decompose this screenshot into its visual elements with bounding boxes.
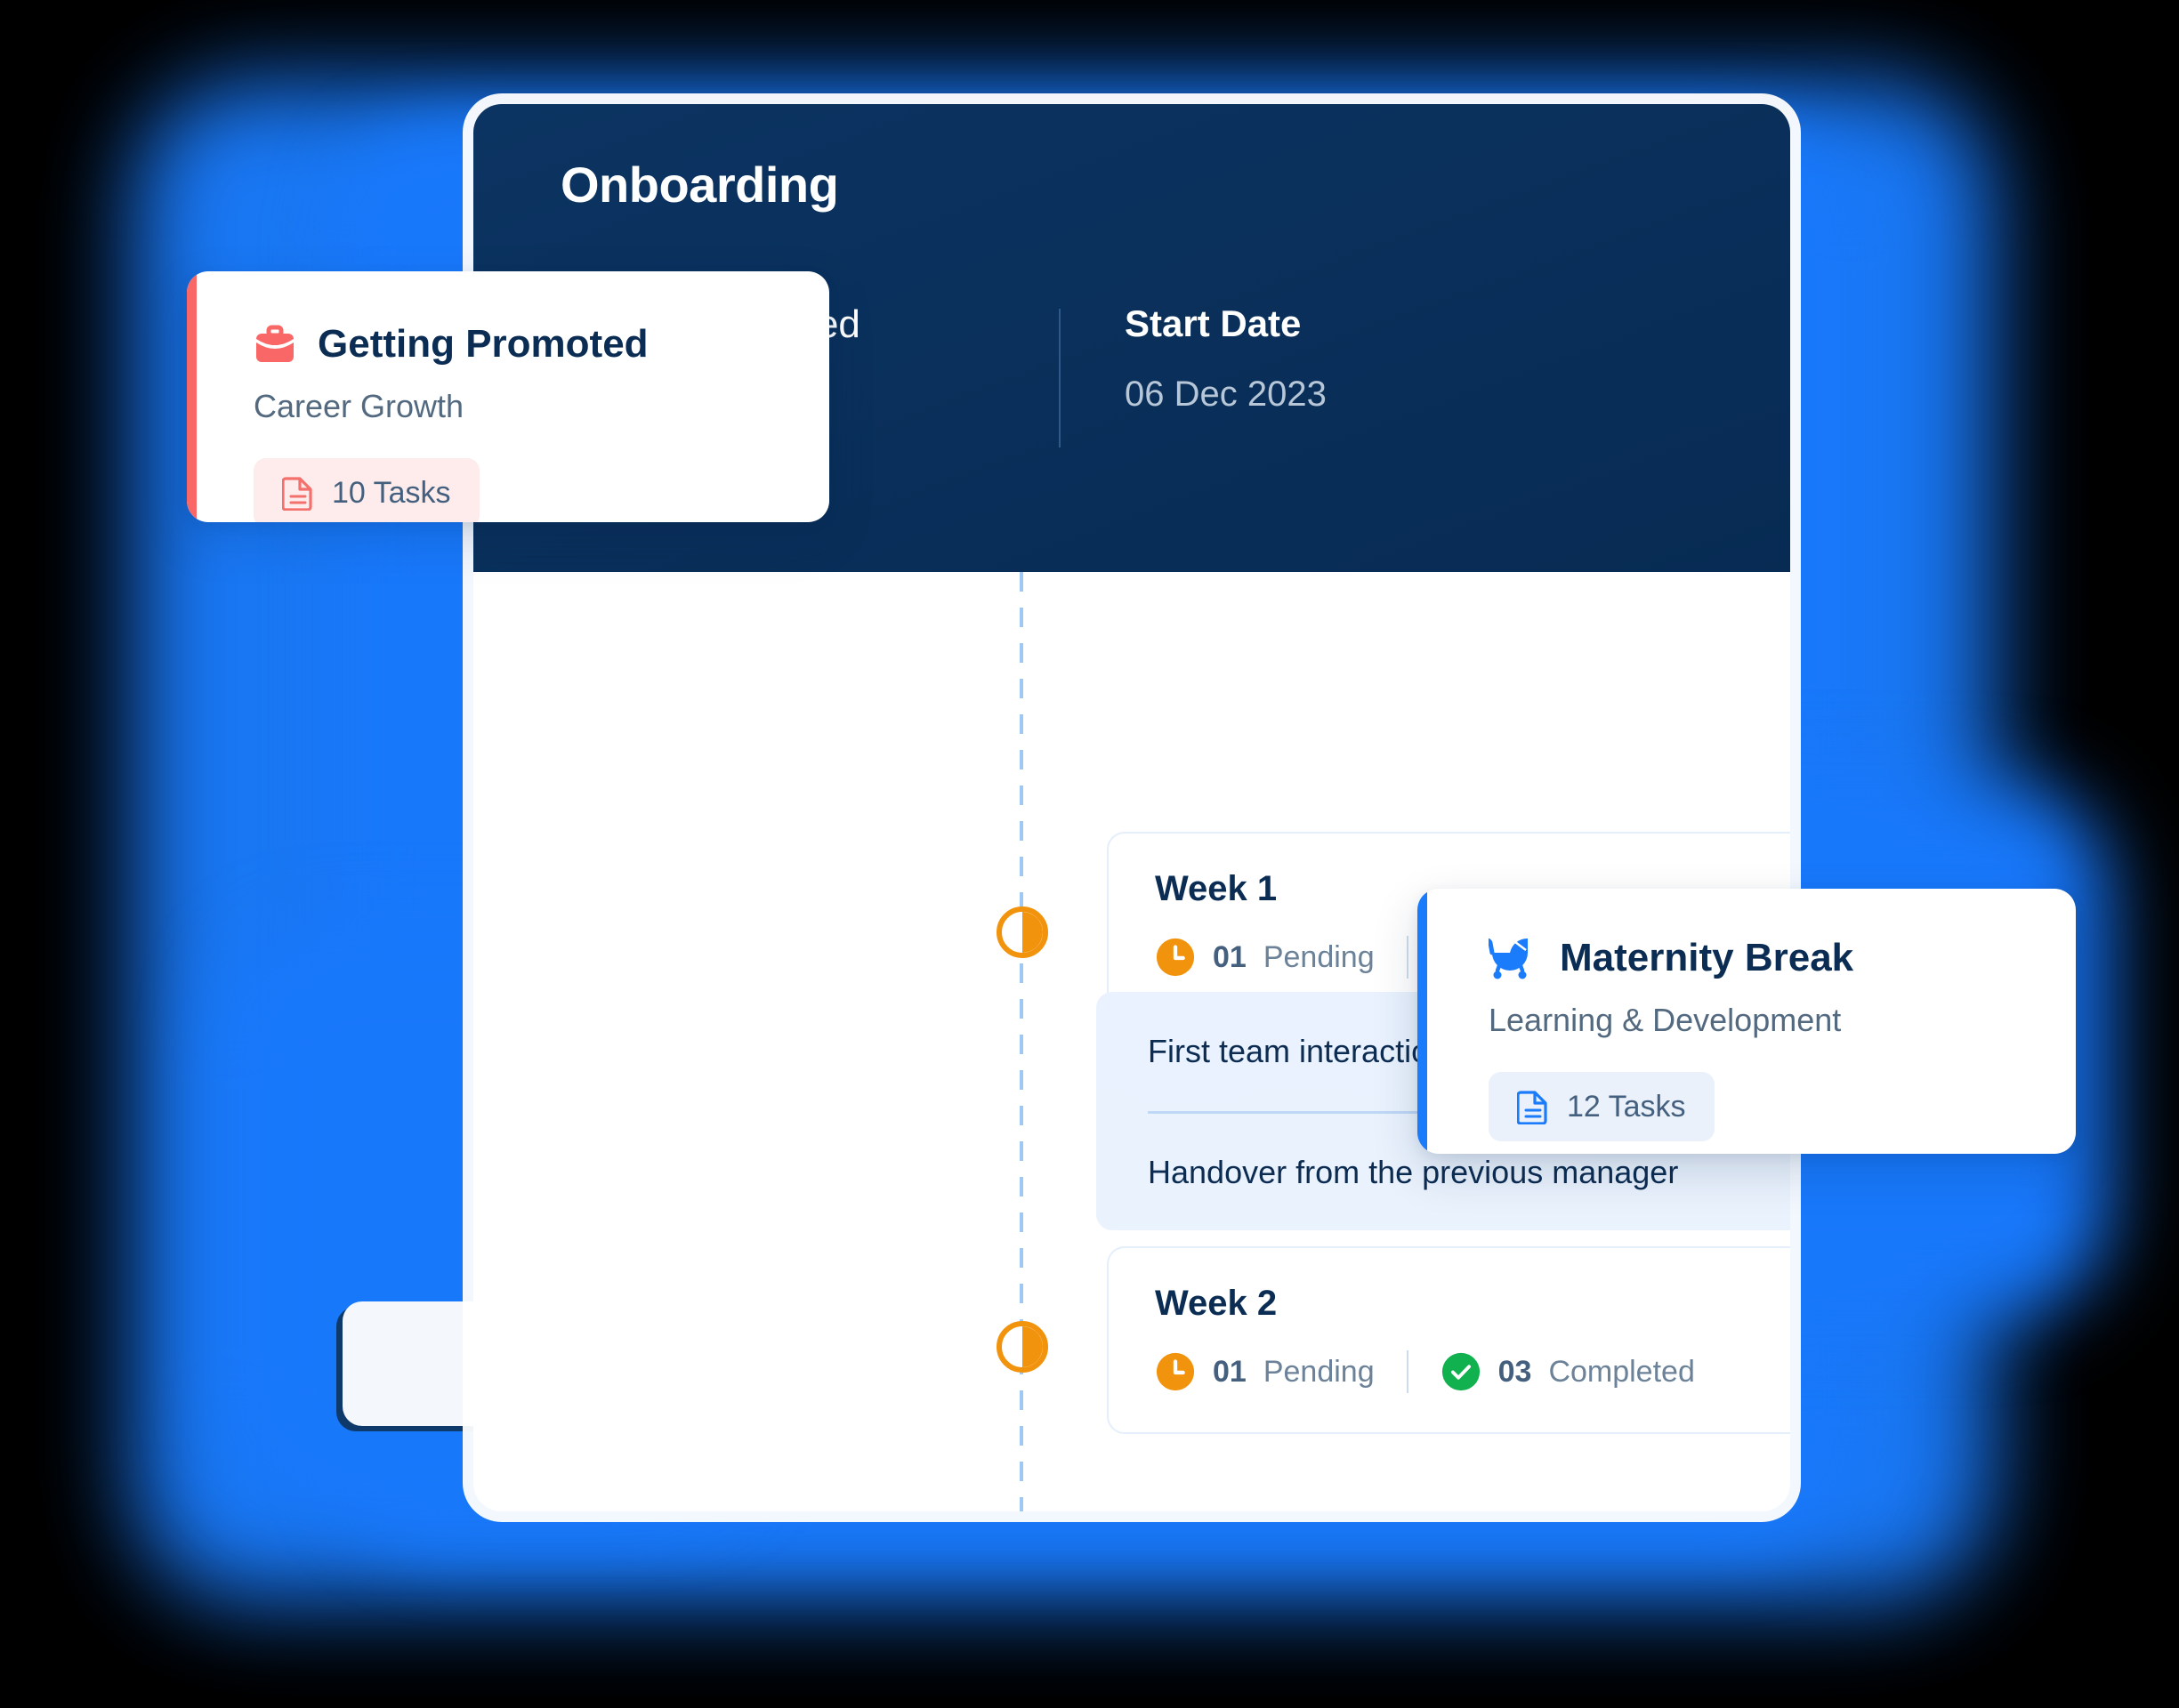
start-date-label: Start Date [1125,305,1327,342]
check-circle-icon [1441,1351,1481,1392]
week-2-pending-value: 01 [1213,1355,1247,1390]
week-1-pending: 01 Pending [1155,937,1375,978]
document-icon [282,475,314,511]
week-card-2[interactable]: Week 2 01 Pending [1107,1246,1790,1434]
card-accent-bar [187,271,197,522]
week-2-completed-value: 03 [1498,1355,1532,1390]
clock-icon [1155,1351,1196,1392]
card-title: Maternity Break [1560,939,1853,978]
week-1-stat-divider [1407,936,1408,979]
week-2-stats: 01 Pending 03 Completed [1155,1350,1790,1393]
week-2-completed-label: Completed [1548,1355,1694,1390]
week-2-pending-label: Pending [1263,1355,1375,1390]
task-count-badge[interactable]: 10 Tasks [254,458,480,522]
timeline-marker-week-2 [997,1321,1048,1373]
briefcase-icon [254,323,296,366]
card-title: Getting Promoted [318,325,649,364]
week-1-pending-label: Pending [1263,940,1375,975]
stat-startdate-group: Start Date 06 Dec 2023 [1125,305,1327,412]
stroller-icon [1489,937,1538,979]
floating-card-getting-promoted[interactable]: Getting Promoted Career Growth 10 Tasks [187,271,829,522]
week-2-stat-divider [1407,1350,1408,1393]
timeline-marker-week-1 [997,906,1048,958]
task-count-badge[interactable]: 12 Tasks [1489,1072,1715,1141]
stage: Onboarding 07/10 Completed 03 Pending [0,0,2179,1708]
start-date-value: 06 Dec 2023 [1125,376,1327,412]
page-title: Onboarding [561,156,1790,213]
task-count-label: 12 Tasks [1567,1090,1686,1124]
card-subtitle: Learning & Development [1489,1004,2076,1036]
clock-icon [1155,937,1196,978]
header-divider [1059,309,1061,447]
week-1-pending-value: 01 [1213,940,1247,975]
task-count-label: 10 Tasks [332,476,451,511]
week-2-completed: 03 Completed [1441,1351,1695,1392]
floating-card-maternity-break[interactable]: Maternity Break Learning & Development 1… [1417,889,2076,1154]
document-icon [1517,1089,1549,1124]
week-2-pending: 01 Pending [1155,1351,1375,1392]
week-2-title: Week 2 [1155,1285,1790,1321]
card-subtitle: Career Growth [254,391,829,423]
card-accent-bar [1417,889,1427,1154]
